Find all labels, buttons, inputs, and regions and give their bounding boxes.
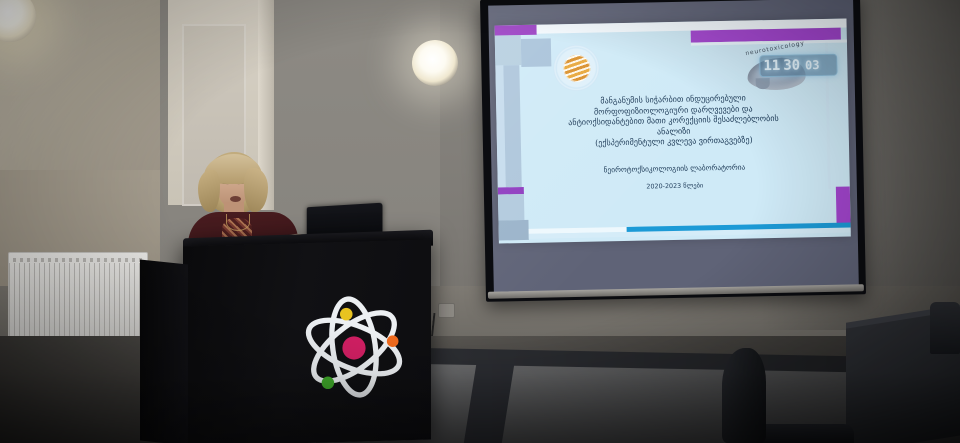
clock-minutes: 30: [783, 58, 800, 72]
presentation-room-photo: neurotoxicology 11 30 03 მანგანუმის სიჭა…: [0, 0, 960, 443]
institute-emblem-icon: [553, 44, 600, 91]
slide-years: 2020-2023 წლები: [520, 179, 830, 193]
projection-screen: neurotoxicology 11 30 03 მანგანუმის სიჭა…: [480, 0, 866, 302]
slide-deco-block-c: [498, 194, 525, 221]
slide-deco-block-b: [521, 38, 552, 67]
atom-logo-icon: [296, 289, 412, 405]
presenter-hair-left: [198, 170, 220, 212]
slide-deco-purple-topleft: [495, 25, 537, 36]
slide-deco-block-d: [498, 220, 528, 241]
presenter-hair-right: [244, 168, 268, 212]
wall-lamp-icon: [412, 40, 458, 86]
neurotoxicology-clock-widget: neurotoxicology 11 30 03: [743, 41, 840, 95]
slide-subtitle: ნეიროტოქსიკოლოგიის ლაბორატორია: [519, 161, 829, 176]
screen-surface: neurotoxicology 11 30 03 მანგანუმის სიჭა…: [488, 0, 859, 293]
emblem-core: [563, 54, 591, 82]
podium-side-panel: [140, 259, 188, 443]
chair-far: [930, 302, 960, 354]
slide-deco-block-a: [495, 35, 522, 66]
slide-title: მანგანუმის სიჭარბით ინდუცირებული მორფოფი…: [518, 91, 829, 150]
presenter-necklace: [226, 214, 250, 231]
chair-backrest: [722, 348, 766, 443]
clock-hours: 11: [763, 59, 780, 73]
clock-seconds: 03: [805, 59, 820, 71]
presentation-slide: neurotoxicology 11 30 03 მანგანუმის სიჭა…: [495, 18, 851, 243]
digital-clock: 11 30 03: [759, 54, 837, 78]
radiator-top-grille: [13, 258, 143, 262]
